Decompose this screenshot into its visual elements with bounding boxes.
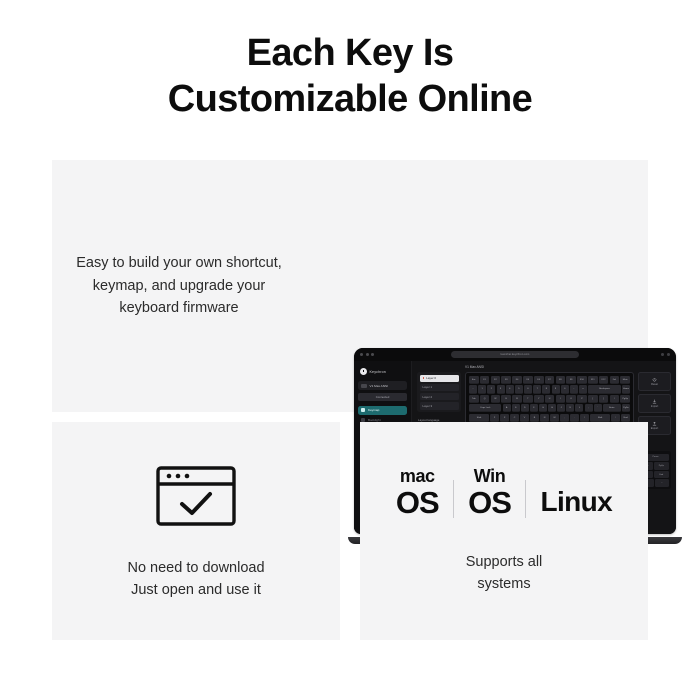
keyboard-key[interactable]: F11: [588, 376, 598, 384]
import-icon: [652, 399, 657, 404]
page-title: Each Key Is Customizable Online: [0, 0, 700, 123]
keyboard-key[interactable]: I: [556, 395, 566, 403]
os-divider: [453, 480, 455, 518]
keyboard-key[interactable]: E: [501, 395, 511, 403]
keyboard-key[interactable]: /: [580, 414, 589, 422]
keyboard-key[interactable]: 1: [478, 385, 486, 393]
keyboard-key[interactable]: F: [530, 404, 538, 412]
card-caption: No need to downloadJust open and use it: [127, 558, 264, 602]
keyboard-key[interactable]: C: [510, 414, 519, 422]
keyboard-key[interactable]: 7: [533, 385, 541, 393]
keyboard-key[interactable]: Del: [610, 376, 620, 384]
keyboard-key[interactable]: End: [621, 414, 630, 422]
layer-item-1[interactable]: Layer 1: [420, 384, 459, 392]
share-icon[interactable]: [661, 353, 664, 356]
sidebar-item-label: Keymap: [368, 408, 379, 412]
connect-button[interactable]: Connected: [358, 393, 407, 401]
card-caption: Supports allsystems: [466, 552, 543, 596]
close-dot[interactable]: [360, 353, 363, 356]
keyboard-key[interactable]: J: [557, 404, 565, 412]
keyboard-key[interactable]: O: [566, 395, 576, 403]
keyboard-key[interactable]: -: [570, 385, 578, 393]
keyboard-key[interactable]: P: [577, 395, 587, 403]
window-traffic-lights[interactable]: [360, 353, 374, 356]
keyboard-key[interactable]: PgUp: [620, 395, 630, 403]
brand-name: Keychron: [370, 370, 386, 374]
brand: Keychron: [360, 368, 407, 375]
keyboard-key[interactable]: Home: [622, 385, 630, 393]
keyboard-row: ShiftZXCVBNM,./Shift↑End: [469, 414, 630, 422]
keyboard-key[interactable]: ': [594, 404, 602, 412]
keyboard-key[interactable]: Backspace: [588, 385, 621, 393]
keyboard-row: ~1234567890-=BackspaceHome: [469, 385, 630, 393]
device-chip[interactable]: V1 Max ANSI: [358, 381, 407, 390]
keyboard-key[interactable]: F10: [577, 376, 587, 384]
action-label: Export: [651, 427, 659, 430]
device-name: V1 Max ANSI: [370, 384, 388, 388]
layer-label: Layer 1: [423, 385, 433, 389]
export-icon: [652, 421, 657, 426]
keyboard-key[interactable]: K: [566, 404, 574, 412]
keyboard-key[interactable]: M: [550, 414, 559, 422]
keyboard-key[interactable]: Shift: [590, 414, 610, 422]
keyboard-key[interactable]: [: [588, 395, 598, 403]
keyboard-key[interactable]: 3: [497, 385, 505, 393]
keyboard-key[interactable]: ,: [560, 414, 569, 422]
keyboard-key[interactable]: PgDn: [622, 404, 630, 412]
macos-prefix: mac: [400, 467, 435, 485]
keyboard-key[interactable]: F4: [512, 376, 522, 384]
keyboard-key[interactable]: F5: [523, 376, 533, 384]
layer-active-dot-icon: [423, 377, 425, 379]
keyboard-key[interactable]: V: [520, 414, 529, 422]
os-divider: [525, 480, 527, 518]
keyboard-key[interactable]: 5: [515, 385, 523, 393]
keyboard-key[interactable]: 8: [542, 385, 550, 393]
palette-key[interactable]: End: [654, 471, 668, 478]
import-button[interactable]: Import: [638, 394, 671, 413]
winos-prefix: Win: [474, 467, 506, 485]
layer-label: Layer 2: [423, 395, 433, 399]
maximize-dot[interactable]: [371, 353, 374, 356]
keyboard-row: TabQWERTYUIOP[]\PgUp: [469, 395, 630, 403]
keyboard-key[interactable]: .: [570, 414, 579, 422]
keyboard-key[interactable]: F7: [545, 376, 555, 384]
keyboard-key[interactable]: Caps Lock: [469, 404, 501, 412]
keymap-icon: [361, 408, 365, 412]
keyboard-key[interactable]: W: [491, 395, 501, 403]
keyboard-key[interactable]: R: [512, 395, 522, 403]
keyboard-key[interactable]: F9: [566, 376, 576, 384]
keyboard-key[interactable]: Y: [534, 395, 544, 403]
feature-card-no-download: No need to downloadJust open and use it: [52, 422, 340, 640]
keyboard-key[interactable]: 2: [487, 385, 495, 393]
keyboard-key[interactable]: Shift: [469, 414, 489, 422]
keyboard-icon: [361, 384, 367, 388]
keyboard-key[interactable]: H: [548, 404, 556, 412]
keyboard-key[interactable]: =: [579, 385, 587, 393]
keyboard-key[interactable]: \: [610, 395, 620, 403]
keyboard-key[interactable]: ;: [585, 404, 593, 412]
winos-logo: Win OS: [468, 467, 511, 518]
keyboard-row: Caps LockASDFGHJKL;'EnterPgDn: [469, 404, 630, 412]
keyboard-key[interactable]: T: [523, 395, 533, 403]
layer-item-3[interactable]: Layer 3: [420, 402, 459, 410]
browser-chrome: launcher.keychron.com: [354, 348, 676, 361]
address-bar-url: launcher.keychron.com: [501, 353, 530, 356]
keyboard-key[interactable]: L: [575, 404, 583, 412]
keyboard-key[interactable]: Q: [480, 395, 490, 403]
keyboard-key[interactable]: F1: [480, 376, 490, 384]
keyboard-key[interactable]: A: [503, 404, 511, 412]
keyboard-key[interactable]: F8: [556, 376, 566, 384]
keyboard-key[interactable]: 9: [552, 385, 560, 393]
keyboard-key[interactable]: F3: [501, 376, 511, 384]
keyboard-key[interactable]: X: [500, 414, 509, 422]
minimize-dot[interactable]: [366, 353, 369, 356]
os-logo-row: mac OS Win OS Linux: [396, 467, 612, 518]
layer-list: Layer 0 Layer 1 Layer 2 Layer 3: [417, 372, 461, 412]
address-bar[interactable]: launcher.keychron.com: [451, 351, 579, 358]
keyboard-key[interactable]: ~: [469, 385, 477, 393]
keyboard-key[interactable]: D: [521, 404, 529, 412]
reset-button[interactable]: Reset: [638, 372, 671, 391]
chrome-actions[interactable]: [661, 353, 670, 356]
layer-item-2[interactable]: Layer 2: [420, 393, 459, 401]
keychron-logo-icon: [360, 368, 367, 375]
keyboard-key[interactable]: G: [539, 404, 547, 412]
keyboard-key[interactable]: ↑: [611, 414, 620, 422]
palette-key[interactable]: PgUp: [654, 462, 668, 469]
keyboard-key[interactable]: F12: [599, 376, 609, 384]
keyboard-key[interactable]: 4: [506, 385, 514, 393]
layer-item-0[interactable]: Layer 0: [420, 375, 459, 383]
keyboard-key[interactable]: Z: [490, 414, 499, 422]
keyboard-key[interactable]: Esc: [469, 376, 479, 384]
keyboard-key[interactable]: B: [530, 414, 539, 422]
keyboard-key[interactable]: Mute: [620, 376, 630, 384]
page-title-line-1: Each Key Is: [247, 32, 454, 74]
macos-logo: mac OS: [396, 467, 439, 518]
tabs-icon[interactable]: [667, 353, 670, 356]
winos-main: OS: [468, 487, 511, 518]
keyboard-key[interactable]: ]: [599, 395, 609, 403]
keyboard-key[interactable]: 0: [561, 385, 569, 393]
action-label: Import: [651, 405, 658, 408]
linux-logo: Linux: [540, 486, 612, 518]
keyboard-key[interactable]: Tab: [469, 395, 479, 403]
keyboard-key[interactable]: F2: [491, 376, 501, 384]
keyboard-key[interactable]: F6: [534, 376, 544, 384]
feature-card-customize: Easy to build your own shortcut, keymap,…: [52, 160, 648, 412]
action-label: Reset: [651, 383, 658, 386]
feature-card-os-support: mac OS Win OS Linux Supports allsystems: [360, 422, 648, 640]
keyboard-title: V1 Max ANSI: [465, 365, 671, 369]
reset-icon: [652, 377, 657, 382]
palette-key[interactable]: ←: [655, 479, 668, 486]
keyboard-key[interactable]: S: [512, 404, 520, 412]
page-title-line-2: Customizable Online: [0, 76, 700, 122]
sidebar-item-keymap[interactable]: Keymap: [358, 406, 407, 415]
keyboard-key[interactable]: U: [545, 395, 555, 403]
keyboard-row: EscF1F2F3F4F5F6F7F8F9F10F11F12DelMute: [469, 376, 630, 384]
macos-main: OS: [396, 487, 439, 518]
browser-check-icon: [150, 460, 242, 532]
layer-label: Layer 3: [423, 404, 433, 408]
promo-text: Easy to build your own shortcut, keymap,…: [52, 252, 292, 319]
layer-label: Layer 0: [426, 376, 436, 380]
keyboard-key[interactable]: Enter: [603, 404, 621, 412]
keyboard-key[interactable]: 6: [524, 385, 532, 393]
keyboard-key[interactable]: N: [540, 414, 549, 422]
